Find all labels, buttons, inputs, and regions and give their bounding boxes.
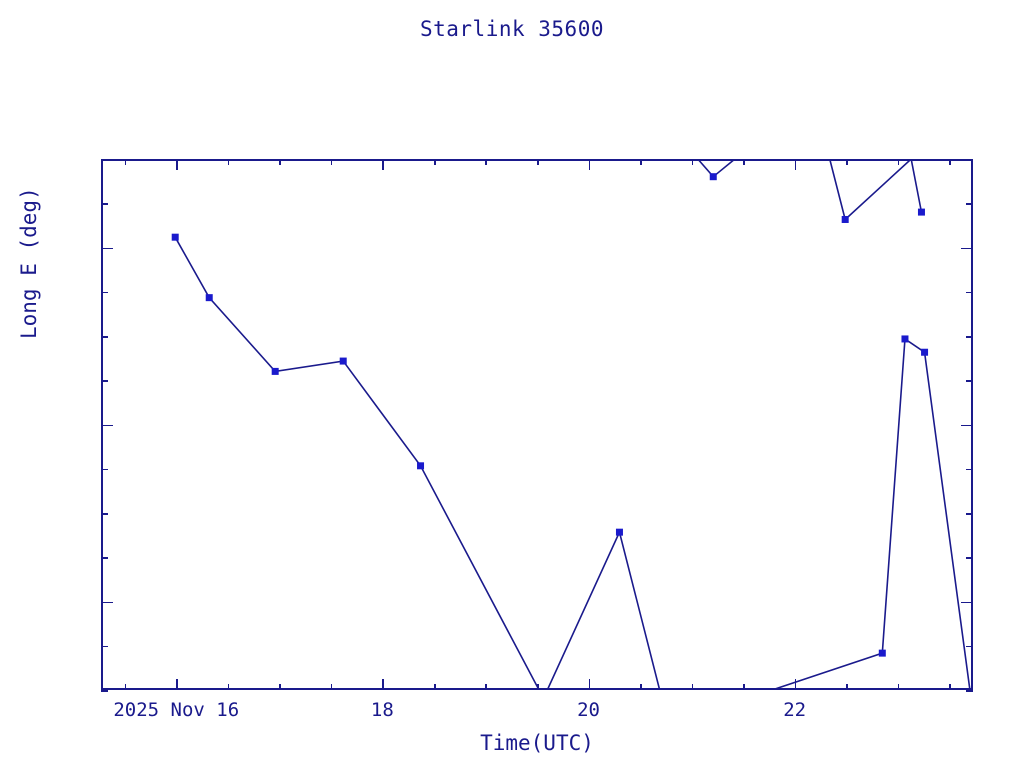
x-axis-minor-tick <box>846 684 848 690</box>
y-axis-minor-tick-right <box>966 203 973 205</box>
data-point-marker <box>842 216 849 223</box>
x-axis-minor-tick-top <box>485 159 487 165</box>
x-axis-minor-tick-top <box>846 159 848 165</box>
x-axis-major-tick-top <box>176 159 178 170</box>
x-axis-tick-label: 22 <box>783 699 806 721</box>
y-axis-minor-tick <box>101 380 108 382</box>
x-axis-minor-tick <box>228 684 230 690</box>
x-axis-minor-tick-top <box>898 159 900 165</box>
x-axis-minor-tick-top <box>537 159 539 165</box>
data-point-marker <box>340 358 347 365</box>
x-axis-minor-tick-top <box>228 159 230 165</box>
y-axis-minor-tick <box>101 557 108 559</box>
y-axis-minor-tick <box>101 159 108 161</box>
x-axis-minor-tick <box>898 684 900 690</box>
y-axis-major-tick <box>101 602 113 604</box>
x-axis-minor-tick-top <box>125 159 127 165</box>
y-axis-major-tick-right <box>961 248 973 250</box>
data-point-marker <box>710 173 717 180</box>
y-axis-minor-tick <box>101 469 108 471</box>
x-axis-minor-tick-top <box>743 159 745 165</box>
data-point-marker <box>918 209 925 216</box>
x-axis-minor-tick <box>331 684 333 690</box>
x-axis-minor-tick-top <box>640 159 642 165</box>
y-axis-major-tick <box>101 248 113 250</box>
x-axis-minor-tick-top <box>434 159 436 165</box>
x-axis-major-tick <box>176 679 178 690</box>
x-axis-minor-tick <box>485 684 487 690</box>
x-axis-minor-tick-top <box>692 159 694 165</box>
x-axis-minor-tick-top <box>279 159 281 165</box>
data-point-marker <box>901 335 908 342</box>
x-axis-minor-tick <box>434 684 436 690</box>
y-axis-minor-tick-right <box>966 646 973 648</box>
x-axis-label: Time(UTC) <box>101 731 973 755</box>
x-axis-minor-tick-top <box>949 159 951 165</box>
data-line-segment-1 <box>175 237 539 690</box>
data-line-segment-6 <box>911 159 921 212</box>
x-axis-tick-label: 2025 Nov 16 <box>113 699 239 721</box>
y-axis-minor-tick-right <box>966 336 973 338</box>
plot-svg <box>101 159 973 690</box>
y-axis-minor-tick-right <box>966 159 973 161</box>
data-point-marker <box>616 529 623 536</box>
y-axis-minor-tick <box>101 690 108 692</box>
page-title: Starlink 35600 <box>0 17 1024 41</box>
y-axis-minor-tick-right <box>966 469 973 471</box>
data-point-marker <box>206 294 213 301</box>
data-line-segment-2 <box>547 532 659 690</box>
data-point-marker <box>879 650 886 657</box>
chart-canvas: Starlink 35600 Long E (deg) Time(UTC) 20… <box>0 0 1024 768</box>
x-axis-minor-tick <box>640 684 642 690</box>
data-line-segment-5 <box>757 339 970 690</box>
x-axis-tick-label: 20 <box>577 699 600 721</box>
x-axis-major-tick <box>589 679 591 690</box>
y-axis-minor-tick <box>101 513 108 515</box>
x-axis-minor-tick <box>537 684 539 690</box>
data-point-marker <box>921 349 928 356</box>
data-point-marker <box>172 234 179 241</box>
x-axis-major-tick-top <box>382 159 384 170</box>
data-point-marker <box>417 462 424 469</box>
y-axis-minor-tick-right <box>966 557 973 559</box>
y-axis-major-tick <box>101 425 113 427</box>
y-axis-minor-tick-right <box>966 690 973 692</box>
y-axis-minor-tick-right <box>966 513 973 515</box>
data-point-marker <box>272 368 279 375</box>
x-axis-minor-tick <box>949 684 951 690</box>
y-axis-minor-tick-right <box>966 380 973 382</box>
y-axis-minor-tick <box>101 292 108 294</box>
y-axis-major-tick-right <box>961 425 973 427</box>
plot-area: Long E (deg) Time(UTC) 2025 Nov 16182022… <box>101 159 973 690</box>
x-axis-minor-tick-top <box>331 159 333 165</box>
x-axis-minor-tick <box>279 684 281 690</box>
y-axis-minor-tick <box>101 646 108 648</box>
y-axis-minor-tick-right <box>966 292 973 294</box>
x-axis-minor-tick <box>743 684 745 690</box>
x-axis-major-tick <box>795 679 797 690</box>
data-line-segment-4 <box>830 159 911 219</box>
x-axis-major-tick-top <box>795 159 797 170</box>
x-axis-major-tick <box>382 679 384 690</box>
x-axis-minor-tick <box>692 684 694 690</box>
x-axis-minor-tick <box>125 684 127 690</box>
y-axis-major-tick-right <box>961 602 973 604</box>
y-axis-minor-tick <box>101 336 108 338</box>
x-axis-major-tick-top <box>589 159 591 170</box>
x-axis-tick-label: 18 <box>371 699 394 721</box>
y-axis-label: Long E (deg) <box>17 187 41 339</box>
y-axis-minor-tick <box>101 203 108 205</box>
